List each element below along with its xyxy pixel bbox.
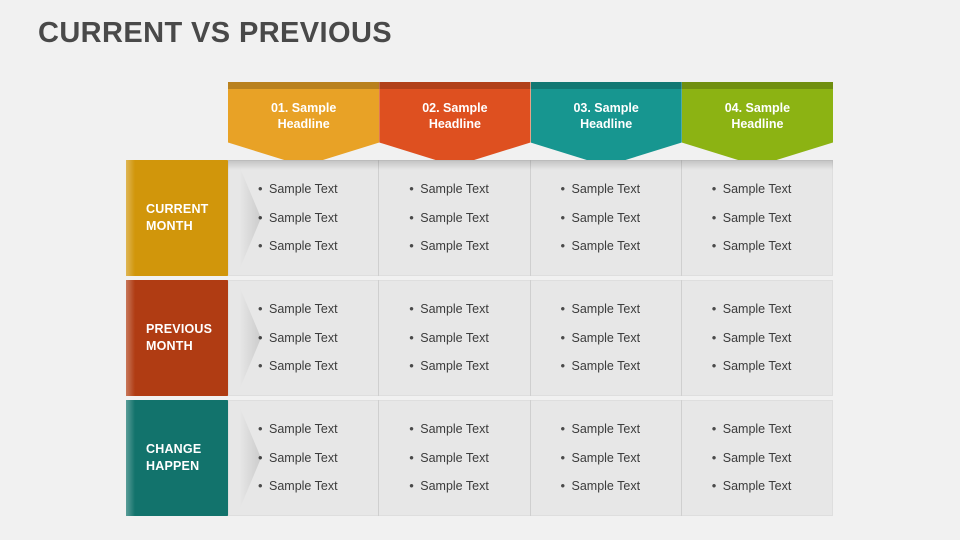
bullet-icon: • — [409, 204, 420, 233]
bullet-icon: • — [258, 295, 269, 324]
list-item: •Sample Text — [409, 295, 529, 324]
cell-change-happen-col1[interactable]: •Sample Text •Sample Text •Sample Text — [228, 400, 379, 516]
cell-previous-month-col1[interactable]: •Sample Text •Sample Text •Sample Text — [228, 280, 379, 396]
list-item-text: Sample Text — [572, 295, 641, 324]
bullet-icon: • — [561, 232, 572, 261]
bullet-icon: • — [712, 232, 723, 261]
bullet-icon: • — [712, 295, 723, 324]
list-item: •Sample Text — [561, 444, 681, 473]
list-item-text: Sample Text — [572, 232, 641, 261]
bullet-icon: • — [561, 175, 572, 204]
list-item-text: Sample Text — [269, 415, 338, 444]
list-item: •Sample Text — [561, 204, 681, 233]
column-header-4-line2: Headline — [682, 116, 833, 132]
list-item-text: Sample Text — [723, 204, 792, 233]
cell-change-happen-col2[interactable]: •Sample Text •Sample Text •Sample Text — [379, 400, 530, 516]
bullet-icon: • — [258, 352, 269, 381]
list-item: •Sample Text — [561, 232, 681, 261]
list-item: •Sample Text — [258, 204, 378, 233]
column-header-2-line2: Headline — [379, 116, 530, 132]
comparison-matrix: 01. Sample Headline 02. Sample Headline … — [126, 82, 833, 522]
list-item: •Sample Text — [409, 232, 529, 261]
bullet-icon: • — [409, 295, 420, 324]
list-item: •Sample Text — [712, 175, 833, 204]
column-header-2-label: 02. Sample Headline — [379, 100, 530, 132]
bullet-icon: • — [258, 324, 269, 353]
column-header-1-line1: 01. Sample — [228, 100, 379, 116]
bullet-icon: • — [561, 444, 572, 473]
bullet-icon: • — [258, 204, 269, 233]
bullet-icon: • — [258, 415, 269, 444]
column-header-1-label: 01. Sample Headline — [228, 100, 379, 132]
list-item: •Sample Text — [712, 232, 833, 261]
list-item-text: Sample Text — [723, 352, 792, 381]
list-item: •Sample Text — [258, 415, 378, 444]
row-label-change-happen-line2: HAPPEN — [146, 458, 201, 475]
cell-change-happen-col3[interactable]: •Sample Text •Sample Text •Sample Text — [531, 400, 682, 516]
list-item-text: Sample Text — [269, 175, 338, 204]
list-item-text: Sample Text — [723, 472, 792, 501]
column-header-3-line2: Headline — [531, 116, 682, 132]
row-change-happen-cells: •Sample Text •Sample Text •Sample Text •… — [228, 400, 833, 516]
column-header-4[interactable]: 04. Sample Headline — [682, 82, 833, 166]
bullet-icon: • — [409, 444, 420, 473]
bullet-icon: • — [409, 352, 420, 381]
table-row: CHANGE HAPPEN •Sample Text •Sample Text … — [126, 400, 833, 516]
list-item: •Sample Text — [712, 472, 833, 501]
bullet-icon: • — [712, 324, 723, 353]
list-item: •Sample Text — [258, 295, 378, 324]
bullet-icon: • — [409, 175, 420, 204]
bullet-icon: • — [409, 472, 420, 501]
list-item: •Sample Text — [561, 295, 681, 324]
list-item: •Sample Text — [712, 415, 833, 444]
cell-current-month-col3[interactable]: •Sample Text •Sample Text •Sample Text — [531, 160, 682, 276]
list-item: •Sample Text — [712, 324, 833, 353]
list-item-text: Sample Text — [572, 352, 641, 381]
bullet-icon: • — [409, 324, 420, 353]
list-item-text: Sample Text — [269, 324, 338, 353]
column-header-4-line1: 04. Sample — [682, 100, 833, 116]
bullet-icon: • — [712, 444, 723, 473]
list-item-text: Sample Text — [420, 232, 489, 261]
column-header-4-shape: 04. Sample Headline — [682, 82, 833, 166]
list-item-text: Sample Text — [269, 352, 338, 381]
list-item: •Sample Text — [258, 175, 378, 204]
list-item-text: Sample Text — [269, 204, 338, 233]
row-previous-month-cells: •Sample Text •Sample Text •Sample Text •… — [228, 280, 833, 396]
list-item-text: Sample Text — [420, 175, 489, 204]
cell-previous-month-col2[interactable]: •Sample Text •Sample Text •Sample Text — [379, 280, 530, 396]
cell-current-month-col2[interactable]: •Sample Text •Sample Text •Sample Text — [379, 160, 530, 276]
list-item: •Sample Text — [258, 352, 378, 381]
cell-previous-month-col3[interactable]: •Sample Text •Sample Text •Sample Text — [531, 280, 682, 396]
list-item-text: Sample Text — [269, 232, 338, 261]
column-header-2-line1: 02. Sample — [379, 100, 530, 116]
list-item-text: Sample Text — [269, 444, 338, 473]
column-header-3[interactable]: 03. Sample Headline — [531, 82, 682, 166]
row-label-current-month-line2: MONTH — [146, 218, 209, 235]
list-item: •Sample Text — [561, 352, 681, 381]
list-item: •Sample Text — [409, 472, 529, 501]
list-item: •Sample Text — [258, 472, 378, 501]
bullet-icon: • — [561, 472, 572, 501]
column-header-3-shape: 03. Sample Headline — [531, 82, 682, 166]
bullet-icon: • — [712, 352, 723, 381]
bullet-icon: • — [258, 232, 269, 261]
bullet-icon: • — [712, 175, 723, 204]
list-item-text: Sample Text — [572, 444, 641, 473]
list-item-text: Sample Text — [420, 472, 489, 501]
row-label-current-month-line1: CURRENT — [146, 201, 209, 218]
column-header-1-shape: 01. Sample Headline — [228, 82, 379, 166]
list-item-text: Sample Text — [420, 352, 489, 381]
column-header-row: 01. Sample Headline 02. Sample Headline … — [228, 82, 833, 166]
list-item-text: Sample Text — [723, 175, 792, 204]
column-header-3-line1: 03. Sample — [531, 100, 682, 116]
cell-current-month-col4[interactable]: •Sample Text •Sample Text •Sample Text — [682, 160, 833, 276]
list-item: •Sample Text — [409, 324, 529, 353]
list-item: •Sample Text — [409, 175, 529, 204]
list-item-text: Sample Text — [420, 415, 489, 444]
list-item: •Sample Text — [258, 444, 378, 473]
column-header-4-label: 04. Sample Headline — [682, 100, 833, 132]
list-item-text: Sample Text — [723, 295, 792, 324]
row-label-current-month-text: CURRENT MONTH — [146, 201, 209, 235]
bullet-icon: • — [712, 204, 723, 233]
list-item: •Sample Text — [409, 352, 529, 381]
bullet-icon: • — [258, 444, 269, 473]
bullet-icon: • — [712, 472, 723, 501]
list-item: •Sample Text — [409, 415, 529, 444]
bullet-icon: • — [409, 232, 420, 261]
list-item: •Sample Text — [409, 204, 529, 233]
list-item-text: Sample Text — [572, 472, 641, 501]
list-item: •Sample Text — [561, 175, 681, 204]
page-title: CURRENT VS PREVIOUS — [38, 17, 392, 50]
list-item: •Sample Text — [712, 352, 833, 381]
column-header-2[interactable]: 02. Sample Headline — [379, 82, 530, 166]
column-header-1-line2: Headline — [228, 116, 379, 132]
list-item-text: Sample Text — [420, 295, 489, 324]
list-item: •Sample Text — [712, 295, 833, 324]
list-item-text: Sample Text — [420, 444, 489, 473]
row-label-change-happen-line1: CHANGE — [146, 441, 201, 458]
list-item: •Sample Text — [258, 324, 378, 353]
bullet-icon: • — [561, 415, 572, 444]
cell-previous-month-col4[interactable]: •Sample Text •Sample Text •Sample Text — [682, 280, 833, 396]
list-item-text: Sample Text — [572, 175, 641, 204]
list-item-text: Sample Text — [572, 324, 641, 353]
list-item-text: Sample Text — [269, 295, 338, 324]
cell-change-happen-col4[interactable]: •Sample Text •Sample Text •Sample Text — [682, 400, 833, 516]
bullet-icon: • — [409, 415, 420, 444]
list-item-text: Sample Text — [723, 415, 792, 444]
list-item-text: Sample Text — [420, 324, 489, 353]
table-row: CURRENT MONTH •Sample Text •Sample Text … — [126, 160, 833, 276]
bullet-icon: • — [258, 472, 269, 501]
list-item: •Sample Text — [409, 444, 529, 473]
bullet-icon: • — [712, 415, 723, 444]
list-item: •Sample Text — [712, 444, 833, 473]
list-item-text: Sample Text — [723, 324, 792, 353]
list-item-text: Sample Text — [572, 204, 641, 233]
row-label-previous-month-text: PREVIOUS MONTH — [146, 321, 212, 355]
row-label-change-happen-text: CHANGE HAPPEN — [146, 441, 201, 475]
row-current-month-cells: •Sample Text •Sample Text •Sample Text •… — [228, 160, 833, 276]
bullet-icon: • — [561, 324, 572, 353]
bullet-icon: • — [258, 175, 269, 204]
list-item-text: Sample Text — [420, 204, 489, 233]
bullet-icon: • — [561, 204, 572, 233]
list-item-text: Sample Text — [269, 472, 338, 501]
list-item-text: Sample Text — [572, 415, 641, 444]
column-header-1[interactable]: 01. Sample Headline — [228, 82, 379, 166]
column-header-3-label: 03. Sample Headline — [531, 100, 682, 132]
list-item: •Sample Text — [561, 415, 681, 444]
list-item: •Sample Text — [712, 204, 833, 233]
row-label-previous-month-line1: PREVIOUS — [146, 321, 212, 338]
list-item-text: Sample Text — [723, 232, 792, 261]
bullet-icon: • — [561, 295, 572, 324]
list-item: •Sample Text — [258, 232, 378, 261]
list-item-text: Sample Text — [723, 444, 792, 473]
cell-current-month-col1[interactable]: •Sample Text •Sample Text •Sample Text — [228, 160, 379, 276]
column-header-2-shape: 02. Sample Headline — [379, 82, 530, 166]
list-item: •Sample Text — [561, 324, 681, 353]
table-row: PREVIOUS MONTH •Sample Text •Sample Text… — [126, 280, 833, 396]
list-item: •Sample Text — [561, 472, 681, 501]
bullet-icon: • — [561, 352, 572, 381]
row-label-previous-month-line2: MONTH — [146, 338, 212, 355]
